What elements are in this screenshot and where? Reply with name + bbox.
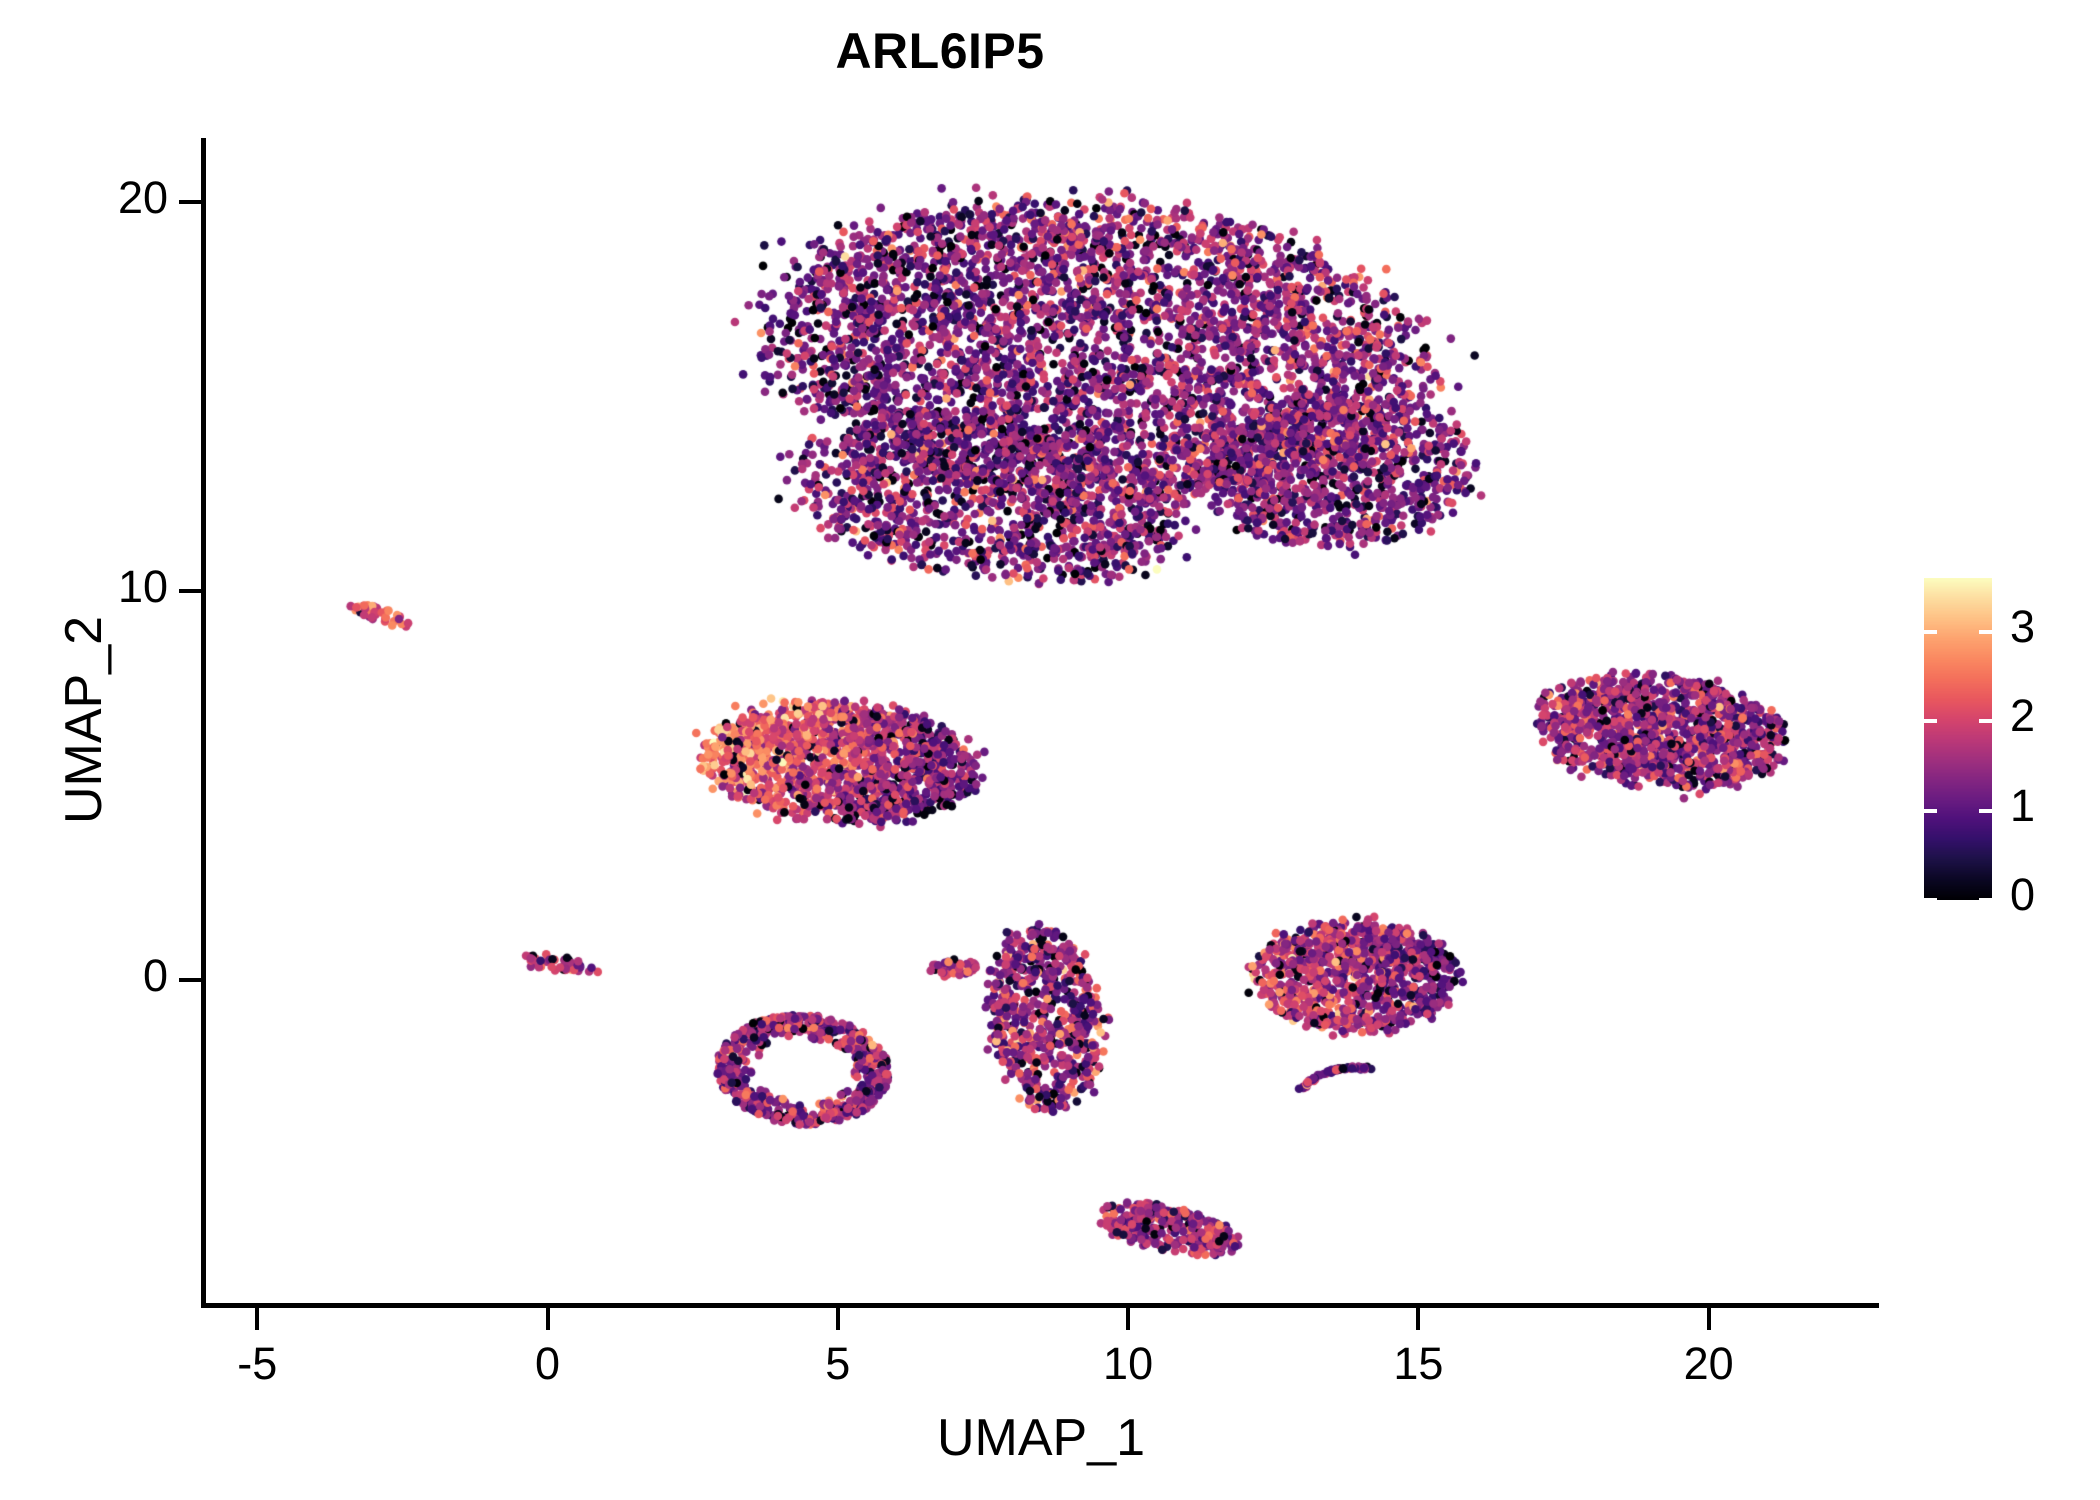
- colorbar-label-1: 1: [2010, 783, 2035, 828]
- colorbar-tickmark-2: [1979, 719, 1992, 723]
- page-title: ARL6IP5: [0, 22, 1880, 80]
- x-ticklabel-20: 20: [1629, 1338, 1789, 1390]
- x-tick-5: [836, 1308, 840, 1330]
- colorbar-tickmark-3: [1924, 630, 1937, 634]
- colorbar-tickmark-2: [1924, 719, 1937, 723]
- x-ticklabel-15: 15: [1338, 1338, 1498, 1390]
- colorbar-tickmark-1: [1979, 809, 1992, 813]
- x-ticklabel-5: 5: [758, 1338, 918, 1390]
- y-tick-0: [179, 978, 201, 982]
- colorbar-gradient: [1924, 578, 1992, 900]
- x-tick-20: [1707, 1308, 1711, 1330]
- plot-panel: [205, 140, 1877, 1303]
- x-tick-15: [1416, 1308, 1420, 1330]
- colorbar-tickmark-0: [1924, 898, 1937, 902]
- x-axis-line: [201, 1303, 1879, 1308]
- y-tick-20: [179, 200, 201, 204]
- x-ticklabel--5: -5: [177, 1338, 337, 1390]
- x-ticklabel-10: 10: [1048, 1338, 1208, 1390]
- x-tick--5: [255, 1308, 259, 1330]
- y-axis-line: [201, 138, 206, 1306]
- color-legend: 3210: [1924, 578, 2084, 900]
- colorbar-label-3: 3: [2010, 604, 2035, 649]
- colorbar-label-2: 2: [2010, 693, 2035, 738]
- y-axis-title: UMAP_2: [54, 320, 114, 1120]
- x-tick-0: [546, 1308, 550, 1330]
- y-tick-10: [179, 589, 201, 593]
- feature-plot-root: ARL6IP5 -505101520 01020 UMAP_1 UMAP_2 3…: [0, 0, 2100, 1500]
- y-ticklabel-20: 20: [0, 172, 168, 224]
- x-axis-title: UMAP_1: [205, 1408, 1877, 1468]
- x-ticklabel-0: 0: [468, 1338, 628, 1390]
- x-tick-10: [1126, 1308, 1130, 1330]
- scatter-plot-canvas: [205, 140, 1877, 1303]
- colorbar-tickmark-1: [1924, 809, 1937, 813]
- colorbar-tickmark-3: [1979, 630, 1992, 634]
- colorbar-label-0: 0: [2010, 872, 2035, 917]
- colorbar-tickmark-0: [1979, 898, 1992, 902]
